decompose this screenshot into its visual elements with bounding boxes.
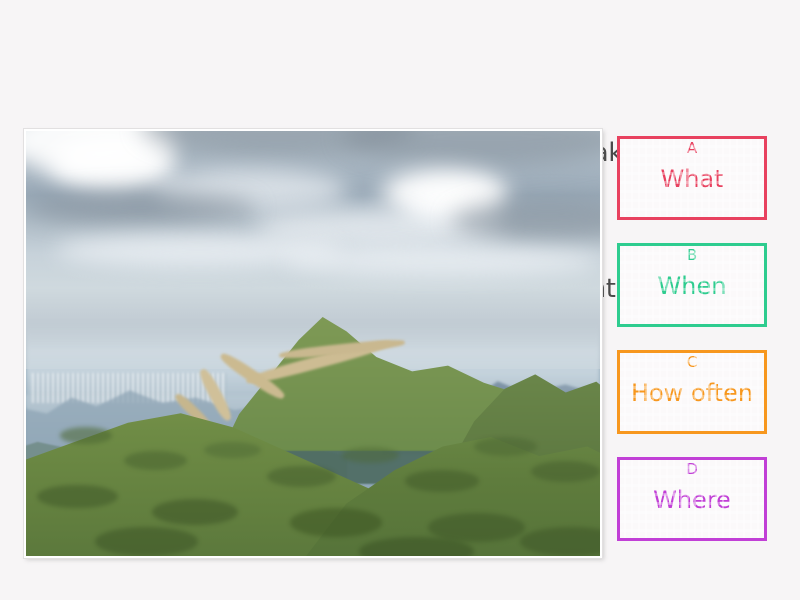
answer-text-a: What — [620, 164, 764, 194]
answer-letter-b: B — [620, 247, 764, 263]
answer-text-d: Where — [620, 485, 764, 515]
cloud-icon — [26, 191, 256, 225]
answer-letter-c: C — [620, 354, 764, 370]
answer-option-a[interactable]: A What — [617, 136, 767, 220]
shrub-texture — [152, 499, 238, 525]
shrub-texture — [267, 466, 336, 487]
shrub-texture — [428, 513, 526, 542]
answer-text-c: How often — [620, 378, 764, 408]
shrub-texture — [474, 437, 537, 456]
question-image-frame — [24, 129, 602, 558]
cloud-icon — [284, 246, 600, 276]
answer-option-d[interactable]: D Where — [617, 457, 767, 541]
shrub-texture — [290, 508, 382, 537]
cloud-icon — [49, 135, 175, 190]
answer-options-list: A What B When C How often D Where — [617, 136, 767, 564]
foreground-grass-layer — [26, 318, 600, 556]
shrub-texture — [405, 470, 480, 491]
shrub-texture — [531, 461, 600, 482]
answer-letter-d: D — [620, 461, 764, 477]
shrub-texture — [95, 527, 198, 556]
answer-letter-a: A — [620, 140, 764, 156]
mountain-landscape-photo — [26, 131, 600, 556]
answer-text-b: When — [620, 271, 764, 301]
shrub-texture — [342, 447, 399, 464]
answer-option-c[interactable]: C How often — [617, 350, 767, 434]
answer-option-b[interactable]: B When — [617, 243, 767, 327]
shrub-texture — [37, 485, 117, 509]
